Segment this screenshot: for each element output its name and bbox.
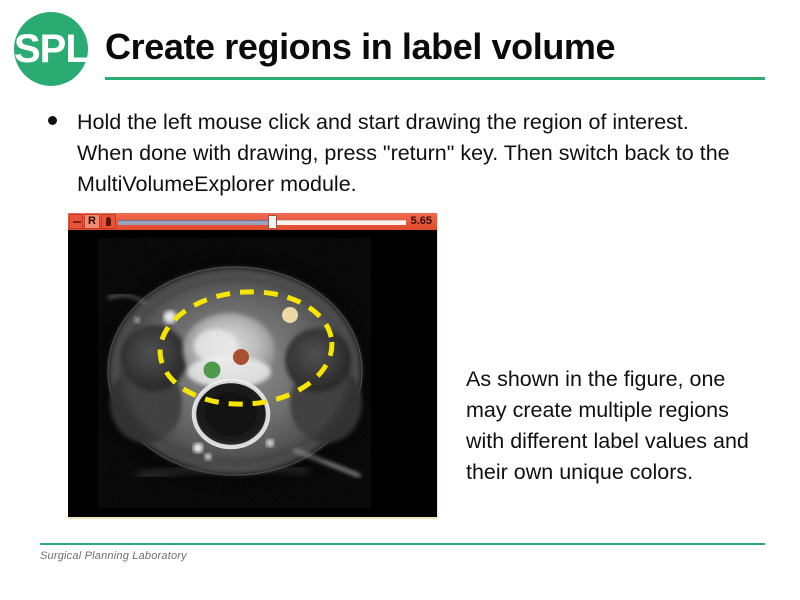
slider-track-filled xyxy=(118,220,270,225)
slice-viewer-canvas[interactable] xyxy=(68,230,437,517)
side-note-text: As shown in the figure, one may create m… xyxy=(466,364,766,488)
page-title: Create regions in label volume xyxy=(105,26,615,68)
pin-icon[interactable] xyxy=(69,214,83,229)
label-marker-brown xyxy=(233,349,249,365)
spl-logo-icon: SPL xyxy=(14,12,88,86)
mri-slice-graphic xyxy=(98,238,371,508)
slide-canvas: SPL Create regions in label volume Hold … xyxy=(0,0,800,600)
slider-handle[interactable] xyxy=(268,215,277,229)
frame-slider[interactable] xyxy=(118,214,406,229)
slider-track-empty xyxy=(270,220,405,225)
slice-viewer-toolbar[interactable]: R 5.65 xyxy=(68,213,437,230)
label-marker-green xyxy=(204,362,221,379)
mri-slice-image xyxy=(98,238,371,508)
logo-text: SPL xyxy=(14,12,88,86)
title-underline-rule xyxy=(105,77,765,80)
bullet-item-label: Hold the left mouse click and start draw… xyxy=(77,107,737,200)
label-marker-cream xyxy=(282,307,298,323)
footer-rule xyxy=(40,543,765,545)
footer-label: Surgical Planning Laboratory xyxy=(40,550,187,562)
slice-viewer-panel: R 5.65 xyxy=(68,213,438,519)
slider-value-label: 5.65 xyxy=(406,214,436,229)
bullet-dot-icon xyxy=(48,116,57,125)
orientation-label[interactable]: R xyxy=(84,214,100,229)
visibility-icon[interactable] xyxy=(101,214,116,229)
